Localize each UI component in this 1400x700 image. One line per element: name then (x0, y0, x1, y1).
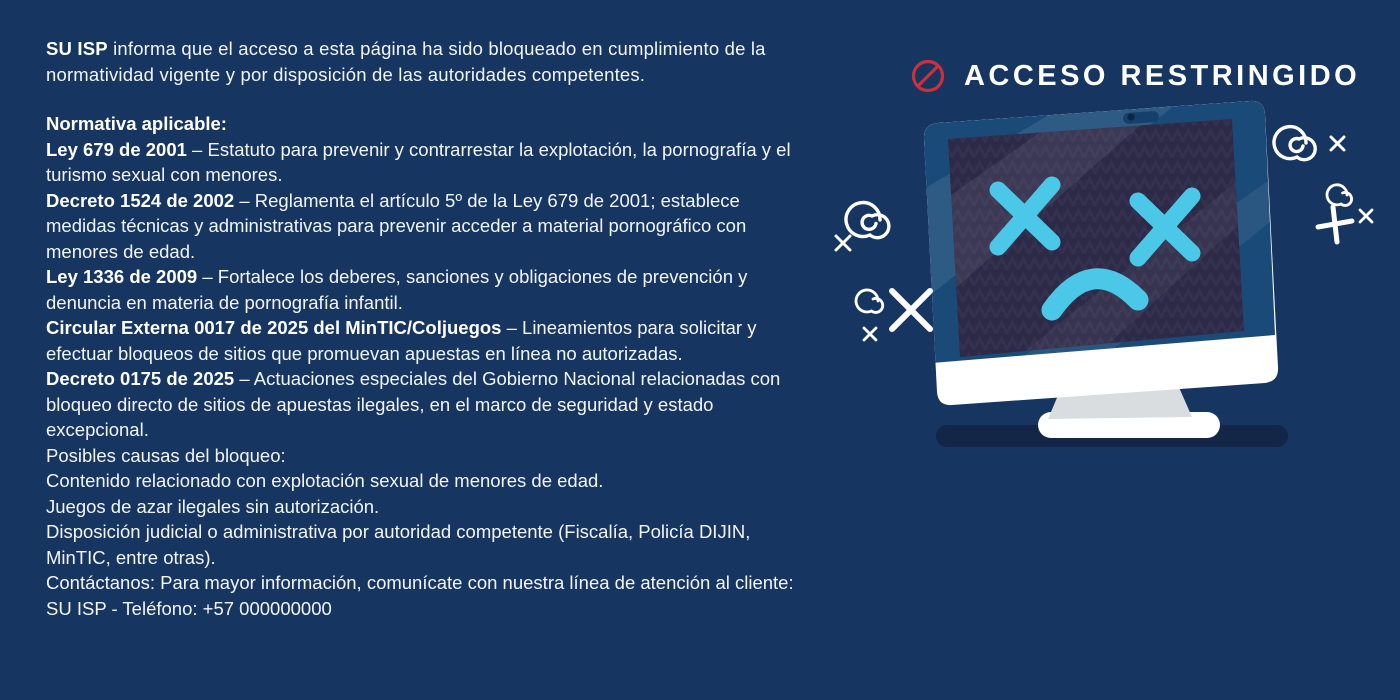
intro-text: informa que el acceso a esta página ha s… (46, 38, 766, 85)
cause-item: Juegos de azar ilegales sin autorización… (46, 494, 806, 520)
law-name: Decreto 0175 de 2025 (46, 368, 234, 389)
law-name: Ley 679 de 2001 (46, 139, 187, 160)
notice-text-column: SU ISP informa que el acceso a esta pági… (46, 36, 806, 621)
law-item: Circular Externa 0017 de 2025 del MinTIC… (46, 315, 806, 366)
big-x-doodle-icon (892, 291, 930, 329)
law-name: Ley 1336 de 2009 (46, 266, 197, 287)
isp-name: SU ISP (46, 38, 108, 59)
law-item: Decreto 1524 de 2002 – Reglamenta el art… (46, 188, 806, 265)
headline: ACCESO RESTRINGIDO (910, 58, 1360, 94)
x-doodle-icon (1331, 137, 1344, 150)
law-item: Decreto 0175 de 2025 – Actuaciones espec… (46, 366, 806, 443)
small-spiral-icon (1327, 185, 1352, 206)
prohibition-icon (910, 58, 946, 94)
law-item: Ley 1336 de 2009 – Fortalece los deberes… (46, 264, 806, 315)
x-doodle-icon (1360, 210, 1372, 222)
regulations-heading: Normativa aplicable: (46, 111, 806, 137)
paragraph-spacer (46, 87, 806, 111)
sad-monitor-illustration (820, 95, 1400, 495)
doodle-group-right (1274, 127, 1315, 160)
x-doodle-icon (836, 236, 850, 250)
headline-title: ACCESO RESTRINGIDO (964, 60, 1360, 93)
x-doodle-icon (864, 328, 876, 340)
blocked-page: SU ISP informa que el acceso a esta pági… (0, 0, 1400, 700)
cause-item: Contenido relacionado con explotación se… (46, 468, 806, 494)
spiral-icon (1274, 127, 1315, 160)
law-name: Decreto 1524 de 2002 (46, 190, 234, 211)
illustration-column: ACCESO RESTRINGIDO (820, 0, 1400, 700)
plus-doodle-icon (1318, 207, 1352, 242)
intro-paragraph: SU ISP informa que el acceso a esta pági… (46, 36, 806, 87)
law-item: Ley 679 de 2001 – Estatuto para prevenir… (46, 137, 806, 188)
spiral-icon (846, 203, 889, 238)
cause-item: Disposición judicial o administrativa po… (46, 519, 806, 570)
causes-heading: Posibles causas del bloqueo: (46, 443, 806, 469)
law-name: Circular Externa 0017 de 2025 del MinTIC… (46, 317, 501, 338)
small-spiral-icon (856, 290, 883, 312)
contact-line: Contáctanos: Para mayor información, com… (46, 570, 806, 621)
